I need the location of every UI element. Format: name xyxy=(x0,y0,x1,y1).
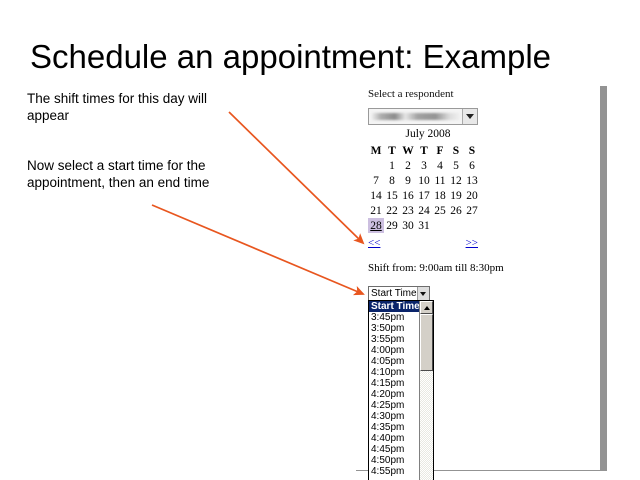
calendar-week-row: 7 8 9 10 11 12 13 xyxy=(368,173,480,188)
list-item[interactable]: 4:25pm xyxy=(369,400,419,411)
respondent-label: Select a respondent xyxy=(368,88,454,100)
list-item[interactable]: 3:55pm xyxy=(369,334,419,345)
list-item[interactable]: 3:45pm xyxy=(369,312,419,323)
calendar-prev-month-link[interactable]: << xyxy=(368,237,380,249)
start-time-option-list[interactable]: Start Time 3:45pm 3:50pm 3:55pm 4:00pm 4… xyxy=(369,301,419,480)
scrollbar-thumb[interactable] xyxy=(420,314,433,371)
annotation-text-select-start-time: Now select a start time for the appointm… xyxy=(27,157,247,191)
calendar-day[interactable]: 29 xyxy=(384,218,400,233)
calendar-day[interactable]: 17 xyxy=(416,188,432,203)
calendar-weekday: S xyxy=(464,143,480,158)
list-item[interactable]: 4:05pm xyxy=(369,356,419,367)
respondent-selected-value-redacted xyxy=(372,113,460,120)
calendar-day[interactable]: 19 xyxy=(448,188,464,203)
calendar-weekday: S xyxy=(448,143,464,158)
calendar-day[interactable]: 10 xyxy=(416,173,432,188)
list-item[interactable]: 4:10pm xyxy=(369,367,419,378)
calendar-day[interactable]: 30 xyxy=(400,218,416,233)
list-item-selected[interactable]: Start Time xyxy=(369,301,419,312)
calendar-week-row: 21 22 23 24 25 26 27 xyxy=(368,203,480,218)
calendar-day-selected[interactable]: 28 xyxy=(368,218,384,233)
chevron-down-icon[interactable] xyxy=(417,287,429,300)
list-item[interactable]: 4:45pm xyxy=(369,444,419,455)
calendar-day[interactable]: 8 xyxy=(384,173,400,188)
calendar-day[interactable]: 24 xyxy=(416,203,432,218)
shift-hours-text: Shift from: 9:00am till 8:30pm xyxy=(368,262,504,274)
calendar-day[interactable]: 21 xyxy=(368,203,384,218)
calendar-weekday-row: M T W T F S S xyxy=(368,143,480,158)
calendar-day[interactable]: 2 xyxy=(400,158,416,173)
calendar-weekday: M xyxy=(368,143,384,158)
calendar-week-row: 28 29 30 31 xyxy=(368,218,480,233)
calendar-day[interactable]: 31 xyxy=(416,218,432,233)
slide-canvas: Schedule an appointment: Example Select … xyxy=(0,0,640,480)
calendar-weekday: F xyxy=(432,143,448,158)
start-time-select[interactable]: Start Time xyxy=(368,286,430,301)
list-item[interactable]: 4:50pm xyxy=(369,455,419,466)
list-item[interactable]: 4:00pm xyxy=(369,345,419,356)
scroll-up-icon[interactable] xyxy=(420,301,433,314)
calendar-day[interactable]: 6 xyxy=(464,158,480,173)
calendar-day[interactable]: 20 xyxy=(464,188,480,203)
calendar-day[interactable] xyxy=(448,218,464,233)
respondent-select[interactable] xyxy=(368,108,478,125)
calendar-day[interactable]: 25 xyxy=(432,203,448,218)
start-time-selected-label: Start Time xyxy=(369,288,417,299)
calendar-day[interactable]: 23 xyxy=(400,203,416,218)
calendar-day[interactable]: 15 xyxy=(384,188,400,203)
dropdown-scrollbar[interactable] xyxy=(419,301,433,480)
list-item[interactable]: 4:55pm xyxy=(369,466,419,477)
list-item[interactable]: 4:35pm xyxy=(369,422,419,433)
calendar-day[interactable]: 22 xyxy=(384,203,400,218)
calendar-day[interactable] xyxy=(432,218,448,233)
list-item[interactable]: 4:40pm xyxy=(369,433,419,444)
list-item[interactable]: 4:15pm xyxy=(369,378,419,389)
calendar-week-row: 14 15 16 17 18 19 20 xyxy=(368,188,480,203)
calendar-day[interactable]: 12 xyxy=(448,173,464,188)
arrow-to-start-time xyxy=(152,205,363,294)
calendar-day[interactable]: 7 xyxy=(368,173,384,188)
chevron-down-icon[interactable] xyxy=(462,109,477,124)
calendar-weekday: T xyxy=(416,143,432,158)
calendar-widget: July 2008 M T W T F S S 1 2 3 xyxy=(368,128,480,233)
page-title: Schedule an appointment: Example xyxy=(30,38,610,76)
calendar-day[interactable]: 16 xyxy=(400,188,416,203)
calendar-month-year: July 2008 xyxy=(368,128,480,140)
calendar-grid: M T W T F S S 1 2 3 4 5 6 xyxy=(368,143,480,233)
calendar-day[interactable]: 14 xyxy=(368,188,384,203)
calendar-day[interactable]: 5 xyxy=(448,158,464,173)
scrollbar-track[interactable] xyxy=(420,371,433,480)
list-item[interactable]: 4:20pm xyxy=(369,389,419,400)
calendar-weekday: T xyxy=(384,143,400,158)
calendar-next-month-link[interactable]: >> xyxy=(466,237,478,249)
calendar-day[interactable] xyxy=(368,158,384,173)
calendar-day[interactable]: 26 xyxy=(448,203,464,218)
list-item[interactable]: 4:30pm xyxy=(369,411,419,422)
calendar-day[interactable]: 18 xyxy=(432,188,448,203)
calendar-weekday: W xyxy=(400,143,416,158)
list-item[interactable]: 3:50pm xyxy=(369,323,419,334)
calendar-nav: << >> xyxy=(368,237,478,249)
start-time-dropdown-list[interactable]: Start Time 3:45pm 3:50pm 3:55pm 4:00pm 4… xyxy=(368,300,434,480)
calendar-day[interactable]: 1 xyxy=(384,158,400,173)
calendar-day[interactable]: 13 xyxy=(464,173,480,188)
arrow-to-calendar xyxy=(229,112,363,243)
calendar-day[interactable]: 11 xyxy=(432,173,448,188)
calendar-day[interactable]: 9 xyxy=(400,173,416,188)
annotation-text-shift-times: The shift times for this day will appear xyxy=(27,90,242,124)
calendar-day[interactable]: 4 xyxy=(432,158,448,173)
calendar-day[interactable] xyxy=(464,218,480,233)
calendar-week-row: 1 2 3 4 5 6 xyxy=(368,158,480,173)
calendar-day[interactable]: 27 xyxy=(464,203,480,218)
calendar-day[interactable]: 3 xyxy=(416,158,432,173)
